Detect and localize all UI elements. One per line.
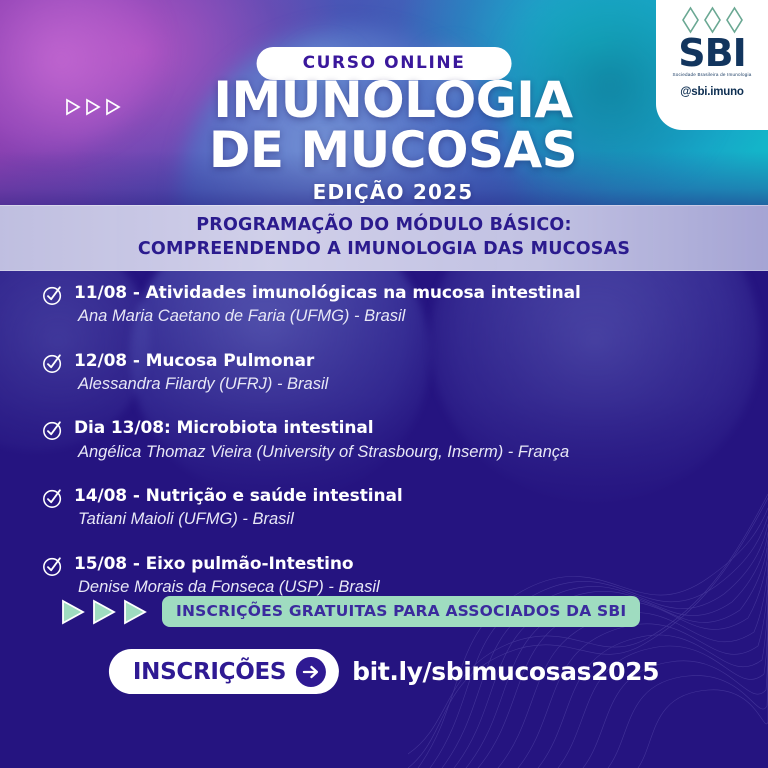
diamond-icon	[725, 6, 744, 34]
inscricoes-button-label: INSCRIÇÕES	[133, 659, 286, 685]
check-circle-icon	[42, 284, 64, 306]
schedule-item[interactable]: 11/08 - Atividades imunológicas na mucos…	[42, 283, 732, 328]
schedule-item[interactable]: 14/08 - Nutrição e saúde intestinal Tati…	[42, 486, 732, 531]
program-subtitle-line1: PROGRAMAÇÃO DO MÓDULO BÁSICO:	[196, 214, 571, 238]
diamond-icon	[703, 6, 722, 34]
schedule-item-texts: 14/08 - Nutrição e saúde intestinal Tati…	[74, 486, 403, 531]
program-subtitle-band: PROGRAMAÇÃO DO MÓDULO BÁSICO: COMPREENDE…	[0, 205, 768, 271]
check-circle-icon	[42, 555, 64, 577]
hero-title-line2: DE MUCOSAS	[0, 125, 768, 175]
hero-edition-label: EDIÇÃO 2025	[0, 180, 768, 204]
schedule-item-texts: Dia 13/08: Microbiota intestinal Angélic…	[74, 418, 569, 463]
triangle-icon	[89, 597, 119, 627]
schedule-item-title: 15/08 - Eixo pulmão-Intestino	[74, 554, 380, 575]
poster-root: SBI Sociedade Brasileira de Imunologia @…	[0, 0, 768, 768]
schedule-item-title: 14/08 - Nutrição e saúde intestinal	[74, 486, 403, 507]
schedule-item[interactable]: 12/08 - Mucosa Pulmonar Alessandra Filar…	[42, 351, 732, 396]
free-registration-badge: INSCRIÇÕES GRATUITAS PARA ASSOCIADOS DA …	[162, 596, 640, 627]
arrow-right-circle-icon	[295, 656, 327, 688]
diamond-icon	[681, 6, 700, 34]
check-circle-icon	[42, 487, 64, 509]
sbi-logo-mark: SBI	[678, 35, 745, 71]
check-circle-icon	[42, 352, 64, 374]
schedule-item[interactable]: 15/08 - Eixo pulmão-Intestino Denise Mor…	[42, 554, 732, 599]
schedule-item-title: 12/08 - Mucosa Pulmonar	[74, 351, 328, 372]
free-triple-triangle-icon	[58, 597, 150, 627]
program-subtitle-line2: COMPREENDENDO A IMUNOLOGIA DAS MUCOSAS	[138, 238, 630, 262]
schedule-item-speaker: Angélica Thomaz Vieira (University of St…	[74, 442, 569, 463]
schedule-item-speaker: Alessandra Filardy (UFRJ) - Brasil	[74, 374, 328, 395]
inscricoes-button[interactable]: INSCRIÇÕES	[109, 649, 339, 694]
schedule-item-title: 11/08 - Atividades imunológicas na mucos…	[74, 283, 581, 304]
schedule-list: 11/08 - Atividades imunológicas na mucos…	[42, 283, 732, 621]
schedule-item-speaker: Tatiani Maioli (UFMG) - Brasil	[74, 509, 403, 530]
schedule-item-texts: 12/08 - Mucosa Pulmonar Alessandra Filar…	[74, 351, 328, 396]
triangle-icon	[120, 597, 150, 627]
cta-row[interactable]: INSCRIÇÕES bit.ly/sbimucosas2025	[109, 649, 659, 694]
triangle-icon	[58, 597, 88, 627]
hero-title-block: IMUNOLOGIA DE MUCOSAS EDIÇÃO 2025	[0, 76, 768, 204]
schedule-item-texts: 15/08 - Eixo pulmão-Intestino Denise Mor…	[74, 554, 380, 599]
schedule-item-title: Dia 13/08: Microbiota intestinal	[74, 418, 569, 439]
schedule-item-texts: 11/08 - Atividades imunológicas na mucos…	[74, 283, 581, 328]
check-circle-icon	[42, 419, 64, 441]
free-registration-row: INSCRIÇÕES GRATUITAS PARA ASSOCIADOS DA …	[58, 596, 640, 627]
registration-link[interactable]: bit.ly/sbimucosas2025	[352, 657, 659, 686]
schedule-item-speaker: Ana Maria Caetano de Faria (UFMG) - Bras…	[74, 306, 581, 327]
schedule-item[interactable]: Dia 13/08: Microbiota intestinal Angélic…	[42, 418, 732, 463]
hero-title-line1: IMUNOLOGIA	[0, 76, 768, 125]
triple-diamond-icon	[681, 6, 744, 34]
